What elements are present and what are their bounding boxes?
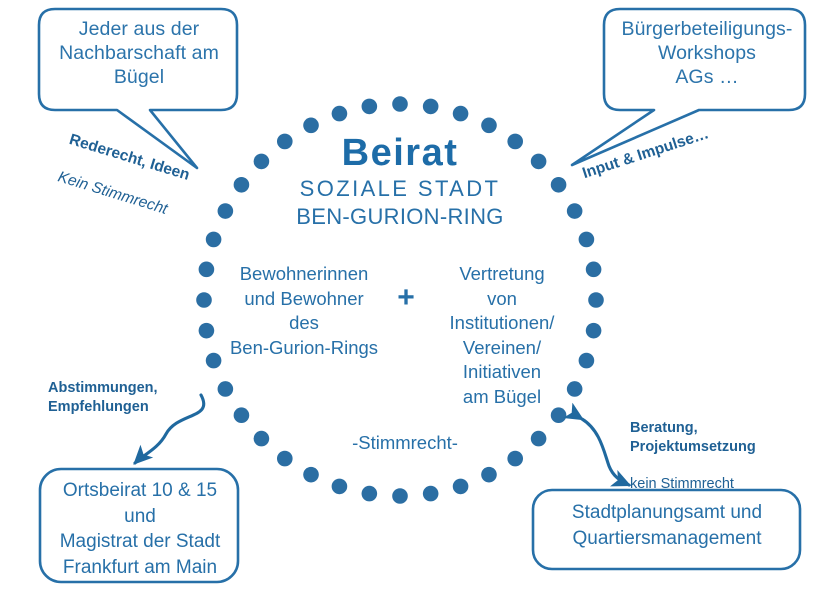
ring-dot: [332, 106, 348, 122]
caption-abstimmungen-bold: Abstimmungen, Empfehlungen: [48, 379, 228, 417]
ring-dot: [551, 407, 567, 423]
ring-dot: [206, 232, 222, 248]
ring-dot: [551, 177, 567, 193]
ring-dot: [218, 203, 234, 219]
ring-dot: [362, 486, 378, 502]
subtitle-ben-gurion-ring: BEN-GURION-RING: [250, 204, 550, 231]
ring-dot: [199, 323, 215, 339]
ring-dot: [277, 451, 293, 467]
ring-dot: [392, 96, 408, 112]
ring-dot: [254, 431, 270, 447]
ring-dot: [234, 177, 250, 193]
ring-dot: [303, 467, 319, 483]
bubble-top-left-text: Jeder aus der Nachbarschaft am Bügel: [44, 18, 234, 89]
caption-abstimmungen-empfehlungen: Abstimmungen, Empfehlungen: [48, 360, 228, 435]
arrow-beratung: [582, 419, 629, 485]
ring-dot: [362, 99, 378, 115]
ring-dot: [588, 292, 604, 308]
ring-dot: [507, 451, 523, 467]
ring-dot: [199, 262, 215, 278]
page-title: Beirat: [250, 130, 550, 176]
ring-dot: [453, 479, 469, 495]
ring-dot: [392, 488, 408, 504]
subtitle-soziale-stadt: SOZIALE STADT: [250, 176, 550, 203]
ring-dot: [234, 407, 250, 423]
diagram-canvas: Jeder aus der Nachbarschaft am Bügel Bür…: [0, 0, 820, 600]
ring-dot: [423, 99, 439, 115]
caption-input-impulse: Input & Impulse…: [580, 124, 711, 183]
caption-beratung-projektumsetzung: Beratung, Projektumsetzung kein Stimmrec…: [630, 400, 810, 513]
box-bottom-right-text: Stadtplanungsamt und Quartiersmanagement: [540, 500, 794, 551]
ring-dot: [567, 203, 583, 219]
ring-dot: [453, 106, 469, 122]
caption-beratung-normal: kein Stimmrecht: [630, 475, 810, 494]
caption-rederecht-ideen: Rederecht, Ideen Kein Stimmrecht: [50, 112, 198, 241]
ring-dot: [423, 486, 439, 502]
column-institutions: Vertretung von Institutionen/ Vereinen/ …: [422, 262, 582, 410]
voting-rights-note: -Stimmrecht-: [320, 432, 490, 455]
ring-dot: [196, 292, 212, 308]
plus-symbol: +: [392, 280, 420, 317]
ring-dot: [579, 232, 595, 248]
box-bottom-left-text: Ortsbeirat 10 & 15 und Magistrat der Sta…: [44, 478, 236, 581]
ring-dot: [531, 431, 547, 447]
ring-dot: [586, 262, 602, 278]
ring-dot: [586, 323, 602, 339]
ring-dot: [332, 479, 348, 495]
ring-dot: [481, 467, 497, 483]
column-residents: Bewohnerinnen und Bewohner des Ben-Gurio…: [216, 262, 392, 360]
bubble-top-right-text: Bürgerbeteiligungs- Workshops AGs …: [608, 18, 806, 89]
caption-beratung-bold: Beratung, Projektumsetzung: [630, 419, 810, 457]
